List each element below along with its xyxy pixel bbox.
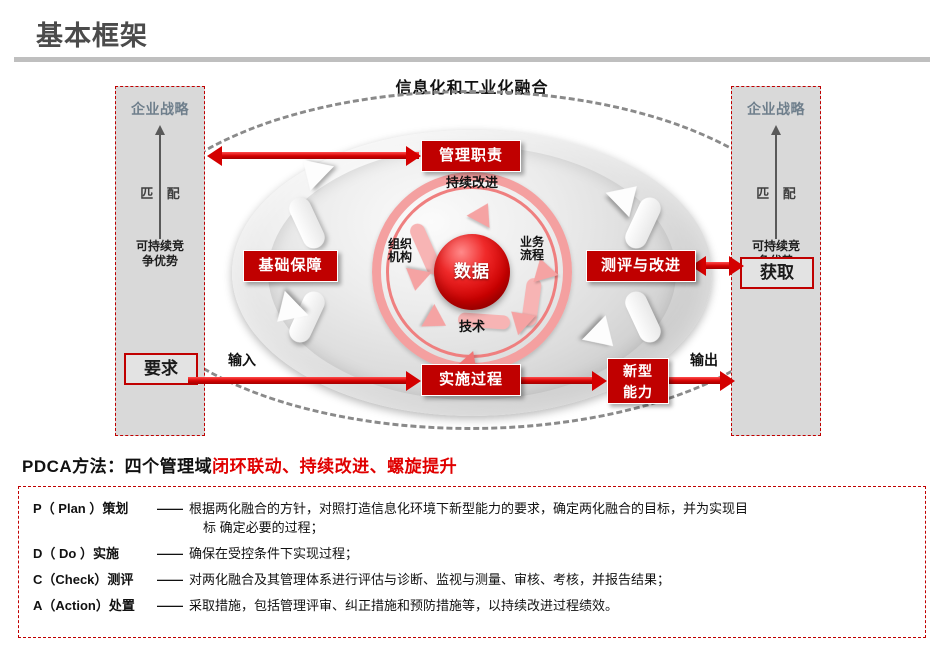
business-line1: 业务 — [520, 235, 544, 249]
pdca-heading-black: PDCA方法：四个管理域 — [22, 457, 212, 476]
management-responsibility-box[interactable]: 管理职责 — [421, 140, 521, 172]
left-panel-match-label: 匹 配 — [116, 183, 204, 202]
execute-to-capability-line — [521, 377, 592, 384]
input-flow-line — [188, 377, 406, 384]
pdca-row-do: D（ Do ）实施 —— 确保在受控条件下实现过程； — [33, 544, 911, 563]
evaluate-to-acquire-arrow-right-icon — [729, 256, 744, 276]
continuous-improvement-label: 持续改进 — [417, 176, 527, 189]
management-to-strategy-line — [222, 152, 419, 159]
organization-line2: 机构 — [388, 250, 412, 264]
left-advantage-line1: 可持续竞 — [136, 239, 184, 253]
new-capability-box[interactable]: 新型 能力 — [607, 358, 669, 404]
management-to-strategy-arrow-left-icon — [207, 146, 222, 166]
pdca-check-key: C（Check）测评 — [33, 570, 151, 589]
acquire-box[interactable]: 获取 — [740, 257, 814, 289]
pdca-do-dash: —— — [151, 544, 189, 563]
management-to-strategy-arrow-right-icon — [406, 146, 421, 166]
output-flow-line — [669, 377, 720, 384]
input-flow-arrow-icon — [406, 371, 421, 391]
input-label: 输入 — [228, 350, 256, 370]
pdca-row-action: A（Action）处置 —— 采取措施，包括管理评审、纠正措施和预防措施等，以持… — [33, 596, 911, 615]
organization-label: 组织 机构 — [380, 238, 420, 264]
pdca-do-key: D（ Do ）实施 — [33, 544, 151, 563]
left-panel-strategy-label: 企业战略 — [116, 99, 204, 119]
pdca-plan-text-main: 根据两化融合的方针，对照打造信息化环境下新型能力的要求，确定两化融合的目标，并为… — [189, 501, 748, 516]
foundation-guarantee-box[interactable]: 基础保障 — [243, 250, 338, 282]
implementation-process-box[interactable]: 实施过程 — [421, 364, 521, 396]
right-panel-strategy-label: 企业战略 — [732, 99, 820, 119]
left-panel-advantage-label: 可持续竞 争优势 — [116, 239, 204, 269]
pdca-action-key: A（Action）处置 — [33, 596, 151, 615]
pink-arrow-left-icon — [402, 268, 431, 293]
page-title: 基本框架 — [36, 14, 148, 53]
business-line2: 流程 — [520, 248, 544, 262]
pdca-plan-key: P（ Plan ）策划 — [33, 499, 151, 518]
pdca-action-text: 采取措施，包括管理评审、纠正措施和预防措施等，以持续改进过程绩效。 — [189, 596, 911, 615]
requirement-box[interactable]: 要求 — [124, 353, 198, 385]
framework-diagram: 信息化和工业化融合 企业战略 匹 配 可持续竞 争优势 要求 企业战略 匹 配 … — [0, 62, 944, 440]
pdca-do-text: 确保在受控条件下实现过程； — [189, 544, 911, 563]
pdca-row-plan: P（ Plan ）策划 —— 根据两化融合的方针，对照打造信息化环境下新型能力的… — [33, 499, 911, 537]
right-panel-match-label: 匹 配 — [732, 183, 820, 202]
pdca-plan-text-cont: 标 确定必要的过程； — [189, 518, 911, 537]
pdca-plan-text: 根据两化融合的方针，对照打造信息化环境下新型能力的要求，确定两化融合的目标，并为… — [189, 499, 911, 537]
execute-to-capability-arrow-icon — [592, 371, 607, 391]
organization-line1: 组织 — [388, 237, 412, 251]
pdca-row-check: C（Check）测评 —— 对两化融合及其管理体系进行评估与诊断、监视与测量、审… — [33, 570, 911, 589]
new-capability-line1: 新型 — [623, 363, 653, 379]
business-process-label: 业务 流程 — [512, 236, 552, 262]
data-sphere: 数据 — [434, 234, 510, 310]
right-strategy-panel: 企业战略 匹 配 可持续竞 争优势 获取 — [731, 86, 821, 436]
new-capability-line2: 能力 — [623, 384, 653, 400]
pdca-action-dash: —— — [151, 596, 189, 615]
evaluation-improvement-box[interactable]: 测评与改进 — [586, 250, 696, 282]
pdca-detail-box: P（ Plan ）策划 —— 根据两化融合的方针，对照打造信息化环境下新型能力的… — [18, 486, 926, 638]
technology-label: 技术 — [442, 320, 502, 333]
output-flow-arrow-icon — [720, 371, 735, 391]
left-advantage-line2: 争优势 — [142, 254, 178, 268]
output-label: 输出 — [690, 350, 718, 370]
pdca-check-text: 对两化融合及其管理体系进行评估与诊断、监视与测量、审核、考核，并报告结果； — [189, 570, 911, 589]
pdca-plan-dash: —— — [151, 499, 189, 518]
pdca-heading-red: 闭环联动、持续改进、螺旋提升 — [212, 457, 457, 476]
pdca-heading: PDCA方法：四个管理域闭环联动、持续改进、螺旋提升 — [22, 452, 457, 477]
pdca-check-dash: —— — [151, 570, 189, 589]
right-advantage-line1: 可持续竞 — [752, 239, 800, 253]
